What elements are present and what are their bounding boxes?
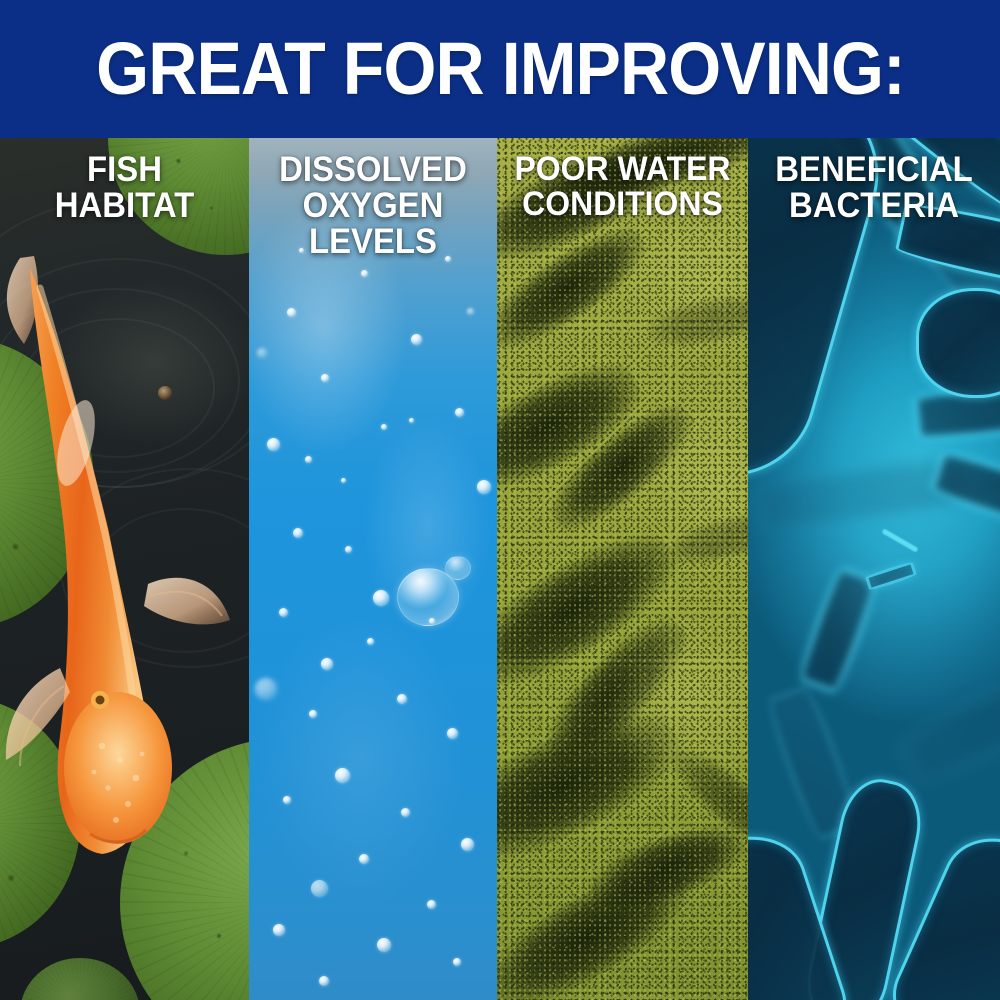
header-banner: GREAT FOR IMPROVING: xyxy=(0,0,1000,138)
product-feature-graphic: GREAT FOR IMPROVING: xyxy=(0,0,1000,1000)
panel-dissolved-oxygen: DISSOLVED OXYGEN LEVELS xyxy=(249,138,497,1000)
panel-beneficial-bacteria: BENEFICIAL BACTERIA xyxy=(748,138,1000,1000)
panel-label-poor-water-conditions: POOR WATER CONDITIONS xyxy=(505,152,741,222)
koi-fish-illustration xyxy=(0,248,249,868)
bacteria-image xyxy=(748,138,1000,1000)
panel-label-dissolved-oxygen: DISSOLVED OXYGEN LEVELS xyxy=(256,152,489,260)
feature-panel-strip: FISH HABITAT xyxy=(0,138,1000,1000)
page-title: GREAT FOR IMPROVING: xyxy=(96,32,905,106)
algae-image xyxy=(497,138,748,1000)
dissolved-oxygen-image xyxy=(249,138,497,1000)
panel-label-fish-habitat: FISH HABITAT xyxy=(7,152,241,224)
panel-label-beneficial-bacteria: BENEFICIAL BACTERIA xyxy=(756,152,993,224)
panel-poor-water-conditions: POOR WATER CONDITIONS xyxy=(497,138,748,1000)
fish-habitat-image xyxy=(0,138,249,1000)
panel-fish-habitat: FISH HABITAT xyxy=(0,138,249,1000)
